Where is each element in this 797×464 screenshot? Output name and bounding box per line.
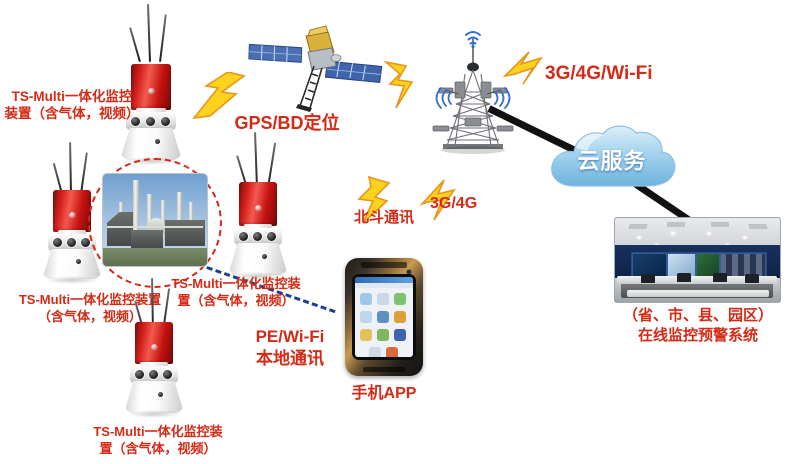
antenna-icon [159, 14, 167, 62]
operator-chair [677, 273, 691, 282]
device-red-body [135, 322, 173, 364]
antenna-icon [69, 142, 72, 194]
control-room-photo [615, 218, 780, 302]
sensor-device-top-left-label: TS-Multi一体化监控 装置（含气体，视频） [2, 88, 142, 123]
device-white-cone [42, 249, 102, 279]
tablet-title-bar [355, 283, 413, 288]
antenna-icon [254, 132, 258, 188]
tablet-bottom-grip [363, 367, 405, 372]
sensor-device-bottom-left [108, 276, 200, 424]
mobile-3g4g-label: 3G/4G [430, 194, 496, 214]
ceiling-tile [711, 222, 730, 227]
sensor-port [135, 370, 144, 379]
antenna-icon [129, 27, 141, 62]
sensor-port [163, 370, 172, 379]
plant-pipe [107, 226, 203, 228]
camera-lens [155, 139, 160, 144]
mobile-app-label: 手机APP [336, 384, 432, 404]
app-icon [394, 293, 406, 305]
app-icon [394, 311, 406, 323]
sensor-device-center [212, 130, 304, 288]
tablet-screen [355, 277, 413, 357]
ceiling-tile [667, 222, 686, 227]
plant-building [165, 220, 205, 246]
sensor-port [81, 238, 90, 247]
device-white-cone [124, 381, 184, 413]
ceiling-light [671, 232, 675, 235]
camera-lens [76, 259, 81, 264]
sensor-port [149, 370, 158, 379]
sensor-port [239, 232, 248, 241]
satellite-icon [248, 8, 383, 113]
sensor-port [53, 238, 62, 247]
app-icon [369, 347, 381, 357]
app-icon [360, 311, 372, 323]
app-icon [386, 347, 398, 357]
app-icon [360, 293, 372, 305]
antenna-icon [147, 4, 151, 62]
plant-ground [103, 248, 207, 266]
device-red-body [239, 182, 277, 226]
front-desk [627, 290, 769, 297]
sensor-port [253, 232, 262, 241]
ceiling-light [707, 232, 711, 235]
cloud-label: 云服务 [546, 144, 678, 176]
sensor-port [267, 232, 276, 241]
ceiling-light [637, 236, 641, 239]
ceiling-tile [748, 224, 768, 229]
monitoring-center-label: （省、市、县、园区） 在线监控预警系统 [598, 306, 797, 347]
lightning-bolt-icon-satellite-to-tower [380, 60, 444, 110]
mobile-3g4g-wifi-label: 3G/4G/Wi-Fi [545, 62, 675, 86]
camera-lens [262, 254, 267, 259]
beidou-label: 北斗通讯 [338, 208, 430, 227]
device-shadow [45, 276, 99, 284]
gps-label: GPS/BD定位 [222, 112, 352, 135]
rugged-tablet-icon [345, 258, 423, 376]
diagram-canvas: 云服务 [0, 0, 797, 464]
operator-chair [745, 274, 759, 283]
sensor-port [161, 117, 170, 126]
sensor-port [146, 117, 155, 126]
sensor-device-bottom-left-label: TS-Multi一体化监控装 置（含气体，视频） [60, 424, 256, 457]
operator-chair [713, 273, 727, 282]
sensor-port [67, 238, 76, 247]
industrial-plant-photo [103, 174, 207, 266]
device-red-body [53, 190, 91, 232]
app-icon [377, 311, 389, 323]
ceiling-light [743, 236, 747, 239]
app-icon [394, 329, 406, 341]
camera-lens [158, 392, 163, 397]
antenna-icon [80, 152, 88, 194]
cloud-icon: 云服务 [546, 122, 678, 192]
device-shadow [127, 410, 181, 418]
operator-chair [641, 274, 655, 283]
app-icon [360, 329, 372, 341]
app-icon [377, 329, 389, 341]
device-white-cone [228, 243, 288, 275]
tablet-top-grip [361, 262, 407, 268]
plant-building [131, 230, 163, 248]
local-comm-label: PE/Wi-Fi 本地通讯 [234, 326, 346, 370]
device-white-cone [120, 128, 182, 160]
app-icon [377, 293, 389, 305]
ceiling-tile [628, 224, 648, 229]
